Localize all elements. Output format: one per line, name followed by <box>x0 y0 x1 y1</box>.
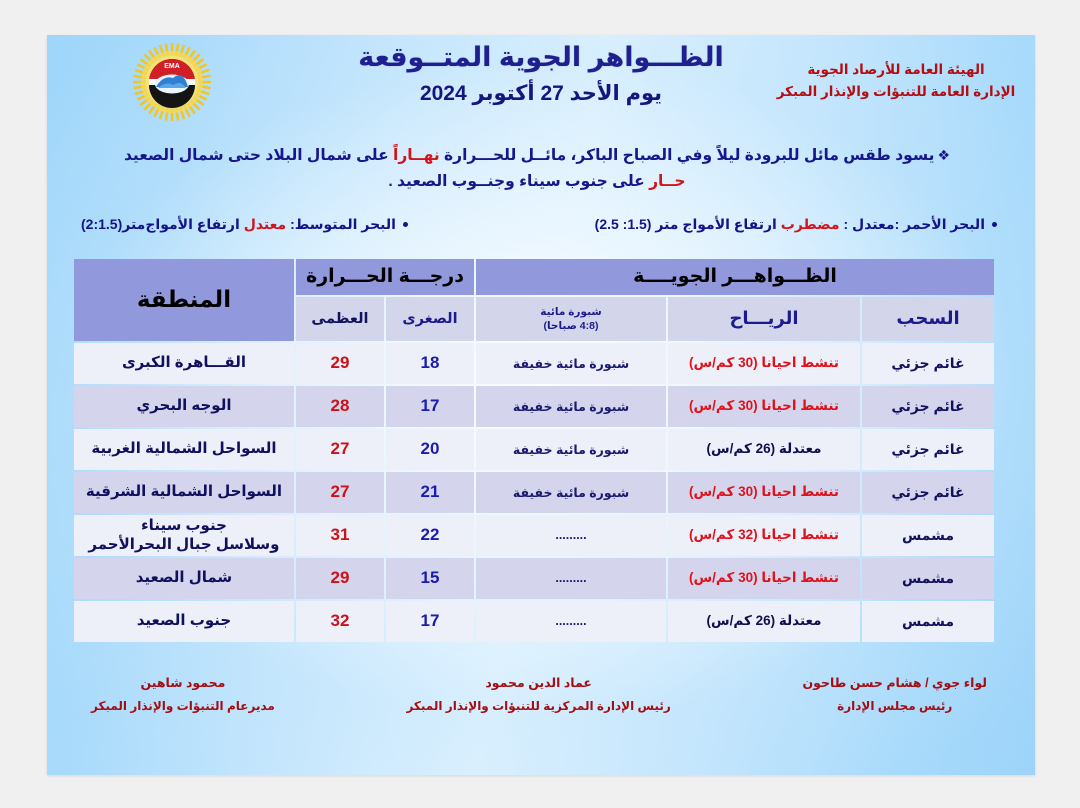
cell-region: الوجه البحري <box>74 386 294 427</box>
diamond-bullet-icon: ❖ <box>937 147 950 163</box>
cell-min-temp: 17 <box>386 386 474 427</box>
cell-min-temp: 17 <box>386 601 474 642</box>
signature-left: لواء جوي / هشام حسن طاحون رئيس مجلس الإد… <box>802 672 987 719</box>
cell-region: جنوب الصعيد <box>74 601 294 642</box>
document-footer: محمود شاهين مديرعام التنبؤات والإنذار ال… <box>47 672 1035 719</box>
forecast-document: EMA الظـــواهر الجوية المتــوقعة يوم الأ… <box>47 35 1035 775</box>
cell-cloud: مشمس <box>862 558 994 599</box>
mediterranean-name: البحر المتوسط: <box>290 216 396 232</box>
cell-region: القـــاهرة الكبرى <box>74 343 294 384</box>
forecast-table-wrapper: الظـــواهـــر الجويــــة درجـــة الحـــر… <box>86 257 996 644</box>
cell-wind: تنشط احيانا (30 كم/س) <box>668 343 860 384</box>
header-temperature: درجـــة الحـــرارة <box>296 259 474 295</box>
cell-min-temp: 15 <box>386 558 474 599</box>
cell-min-temp: 21 <box>386 472 474 513</box>
cell-cloud: غائم جزئي <box>862 472 994 513</box>
signature-left-role: رئيس مجلس الإدارة <box>802 695 987 718</box>
summary-highlight-hot: حــار <box>649 173 686 190</box>
subheader-min-temp: الصغرى <box>386 297 474 341</box>
cell-fog: شبورة مائية خفيفة <box>476 472 666 513</box>
cell-max-temp: 31 <box>296 515 384 556</box>
subheader-wind-label: الريـــاح <box>729 308 798 328</box>
subheader-cloud: السحب <box>862 297 994 341</box>
organization-block: الهيئة العامة للأرصاد الجوية الإدارة الع… <box>771 59 1021 104</box>
subheader-max-temp: العظمى <box>296 297 384 341</box>
signature-middle-name: عماد الدين محمود <box>406 672 670 696</box>
red-sea-waves-label: ارتفاع الأمواج <box>682 216 776 232</box>
sea-conditions: البحر المتوسط: معتدل ارتفاع الأمواج(2:1.… <box>47 216 1035 233</box>
ema-sun-cloud-logo-icon: EMA <box>131 43 213 121</box>
cell-wind: تنشط احيانا (30 كم/س) <box>668 386 860 427</box>
cell-fog: ......... <box>476 515 666 556</box>
cell-max-temp: 29 <box>296 343 384 384</box>
cell-region: جنوب سيناءوسلاسل جبال البحرالأحمر <box>74 515 294 556</box>
cell-fog: ......... <box>476 601 666 642</box>
cell-max-temp: 27 <box>296 472 384 513</box>
cell-wind: تنشط احيانا (30 كم/س) <box>668 558 860 599</box>
cell-max-temp: 32 <box>296 601 384 642</box>
subheader-fog-line1: شبورة مائية <box>476 305 666 319</box>
mediterranean-state: معتدل <box>244 216 287 232</box>
signature-right-name: محمود شاهين <box>91 672 275 696</box>
subheader-max-temp-label: العظمى <box>311 311 368 327</box>
svg-text:EMA: EMA <box>164 63 180 70</box>
subheader-min-temp-label: الصغرى <box>402 311 457 327</box>
cell-cloud: غائم جزئي <box>862 343 994 384</box>
table-row: غائم جزئيتنشط احيانا (30 كم/س)شبورة مائي… <box>74 472 994 513</box>
signature-middle-role: رئيس الإدارة المركزية للتنبؤات والإنذار … <box>406 695 670 718</box>
cell-max-temp: 27 <box>296 429 384 470</box>
summary-part-1: يسود طقس مائل للبرودة ليلاً وفي الصباح ا… <box>440 147 935 164</box>
table-row: غائم جزئيتنشط احيانا (30 كم/س)شبورة مائي… <box>74 386 994 427</box>
table-row: مشمستنشط احيانا (30 كم/س).........1529شم… <box>74 558 994 599</box>
signature-left-name: لواء جوي / هشام حسن طاحون <box>802 672 987 696</box>
cell-fog: شبورة مائية خفيفة <box>476 429 666 470</box>
org-name-line2: الإدارة العامة للتنبؤات والإنذار المبكر <box>771 81 1021 103</box>
red-sea-state: مضطرب <box>781 216 840 232</box>
cell-region: السواحل الشمالية الغربية <box>74 429 294 470</box>
cell-min-temp: 18 <box>386 343 474 384</box>
summary-part-3: على شمال البلاد حتى شمال الصعيد <box>124 147 393 164</box>
cell-min-temp: 20 <box>386 429 474 470</box>
cell-wind: تنشط احيانا (30 كم/س) <box>668 472 860 513</box>
subheader-wind: الريـــاح <box>668 297 860 341</box>
cell-wind: تنشط احيانا (32 كم/س) <box>668 515 860 556</box>
cell-cloud: غائم جزئي <box>862 429 994 470</box>
red-sea-waves-value: (2.5 :1.5) متر <box>595 216 679 232</box>
document-header: EMA الظـــواهر الجوية المتــوقعة يوم الأ… <box>47 35 1035 127</box>
cell-min-temp: 22 <box>386 515 474 556</box>
org-name-line1: الهيئة العامة للأرصاد الجوية <box>771 59 1021 81</box>
cell-region: السواحل الشمالية الشرقية <box>74 472 294 513</box>
mediterranean-waves-value: (2:1.5)متر <box>81 216 145 232</box>
weather-summary: ❖يسود طقس مائل للبرودة ليلاً وفي الصباح … <box>87 143 987 196</box>
cell-cloud: مشمس <box>862 601 994 642</box>
table-row: مشمستنشط احيانا (32 كم/س).........2231جن… <box>74 515 994 556</box>
cell-cloud: غائم جزئي <box>862 386 994 427</box>
subheader-fog-line2: (4:8 صباحا) <box>476 319 666 333</box>
red-sea-name: البحر الأحمر :معتدل : <box>844 216 986 232</box>
table-row: غائم جزئيتنشط احيانا (30 كم/س)شبورة مائي… <box>74 343 994 384</box>
cell-fog: شبورة مائية خفيفة <box>476 343 666 384</box>
cell-fog: شبورة مائية خفيفة <box>476 386 666 427</box>
forecast-table: الظـــواهـــر الجويــــة درجـــة الحـــر… <box>72 257 996 644</box>
header-phenomena: الظـــواهـــر الجويــــة <box>476 259 994 295</box>
signature-middle: عماد الدين محمود رئيس الإدارة المركزية ل… <box>406 672 670 719</box>
table-row: غائم جزئيمعتدلة (26 كم/س)شبورة مائية خفي… <box>74 429 994 470</box>
signature-right: محمود شاهين مديرعام التنبؤات والإنذار ال… <box>91 672 275 719</box>
cell-max-temp: 29 <box>296 558 384 599</box>
cell-max-temp: 28 <box>296 386 384 427</box>
header-region: المنطقة <box>74 259 294 341</box>
sea-condition-mediterranean: البحر المتوسط: معتدل ارتفاع الأمواج(2:1.… <box>81 216 408 233</box>
table-row: مشمسمعتدلة (26 كم/س).........1732جنوب ال… <box>74 601 994 642</box>
cell-region: شمال الصعيد <box>74 558 294 599</box>
cell-wind: معتدلة (26 كم/س) <box>668 429 860 470</box>
table-header-top-row: الظـــواهـــر الجويــــة درجـــة الحـــر… <box>74 259 994 295</box>
subheader-cloud-label: السحب <box>896 308 959 328</box>
cell-cloud: مشمس <box>862 515 994 556</box>
signature-right-role: مديرعام التنبؤات والإنذار المبكر <box>91 695 275 718</box>
sea-condition-red-sea: البحر الأحمر :معتدل : مضطرب ارتفاع الأمو… <box>595 216 997 233</box>
forecast-table-body: غائم جزئيتنشط احيانا (30 كم/س)شبورة مائي… <box>74 343 994 642</box>
bullet-dot-icon <box>992 222 997 227</box>
cell-fog: ......... <box>476 558 666 599</box>
mediterranean-waves-label: ارتفاع الأمواج <box>145 216 239 232</box>
cell-wind: معتدلة (26 كم/س) <box>668 601 860 642</box>
subheader-fog: شبورة مائية (4:8 صباحا) <box>476 297 666 341</box>
bullet-dot-icon <box>403 222 408 227</box>
summary-part-5: على جنوب سيناء وجنــوب الصعيد . <box>388 173 649 190</box>
summary-highlight-daytime: نهــاراً <box>393 147 440 164</box>
